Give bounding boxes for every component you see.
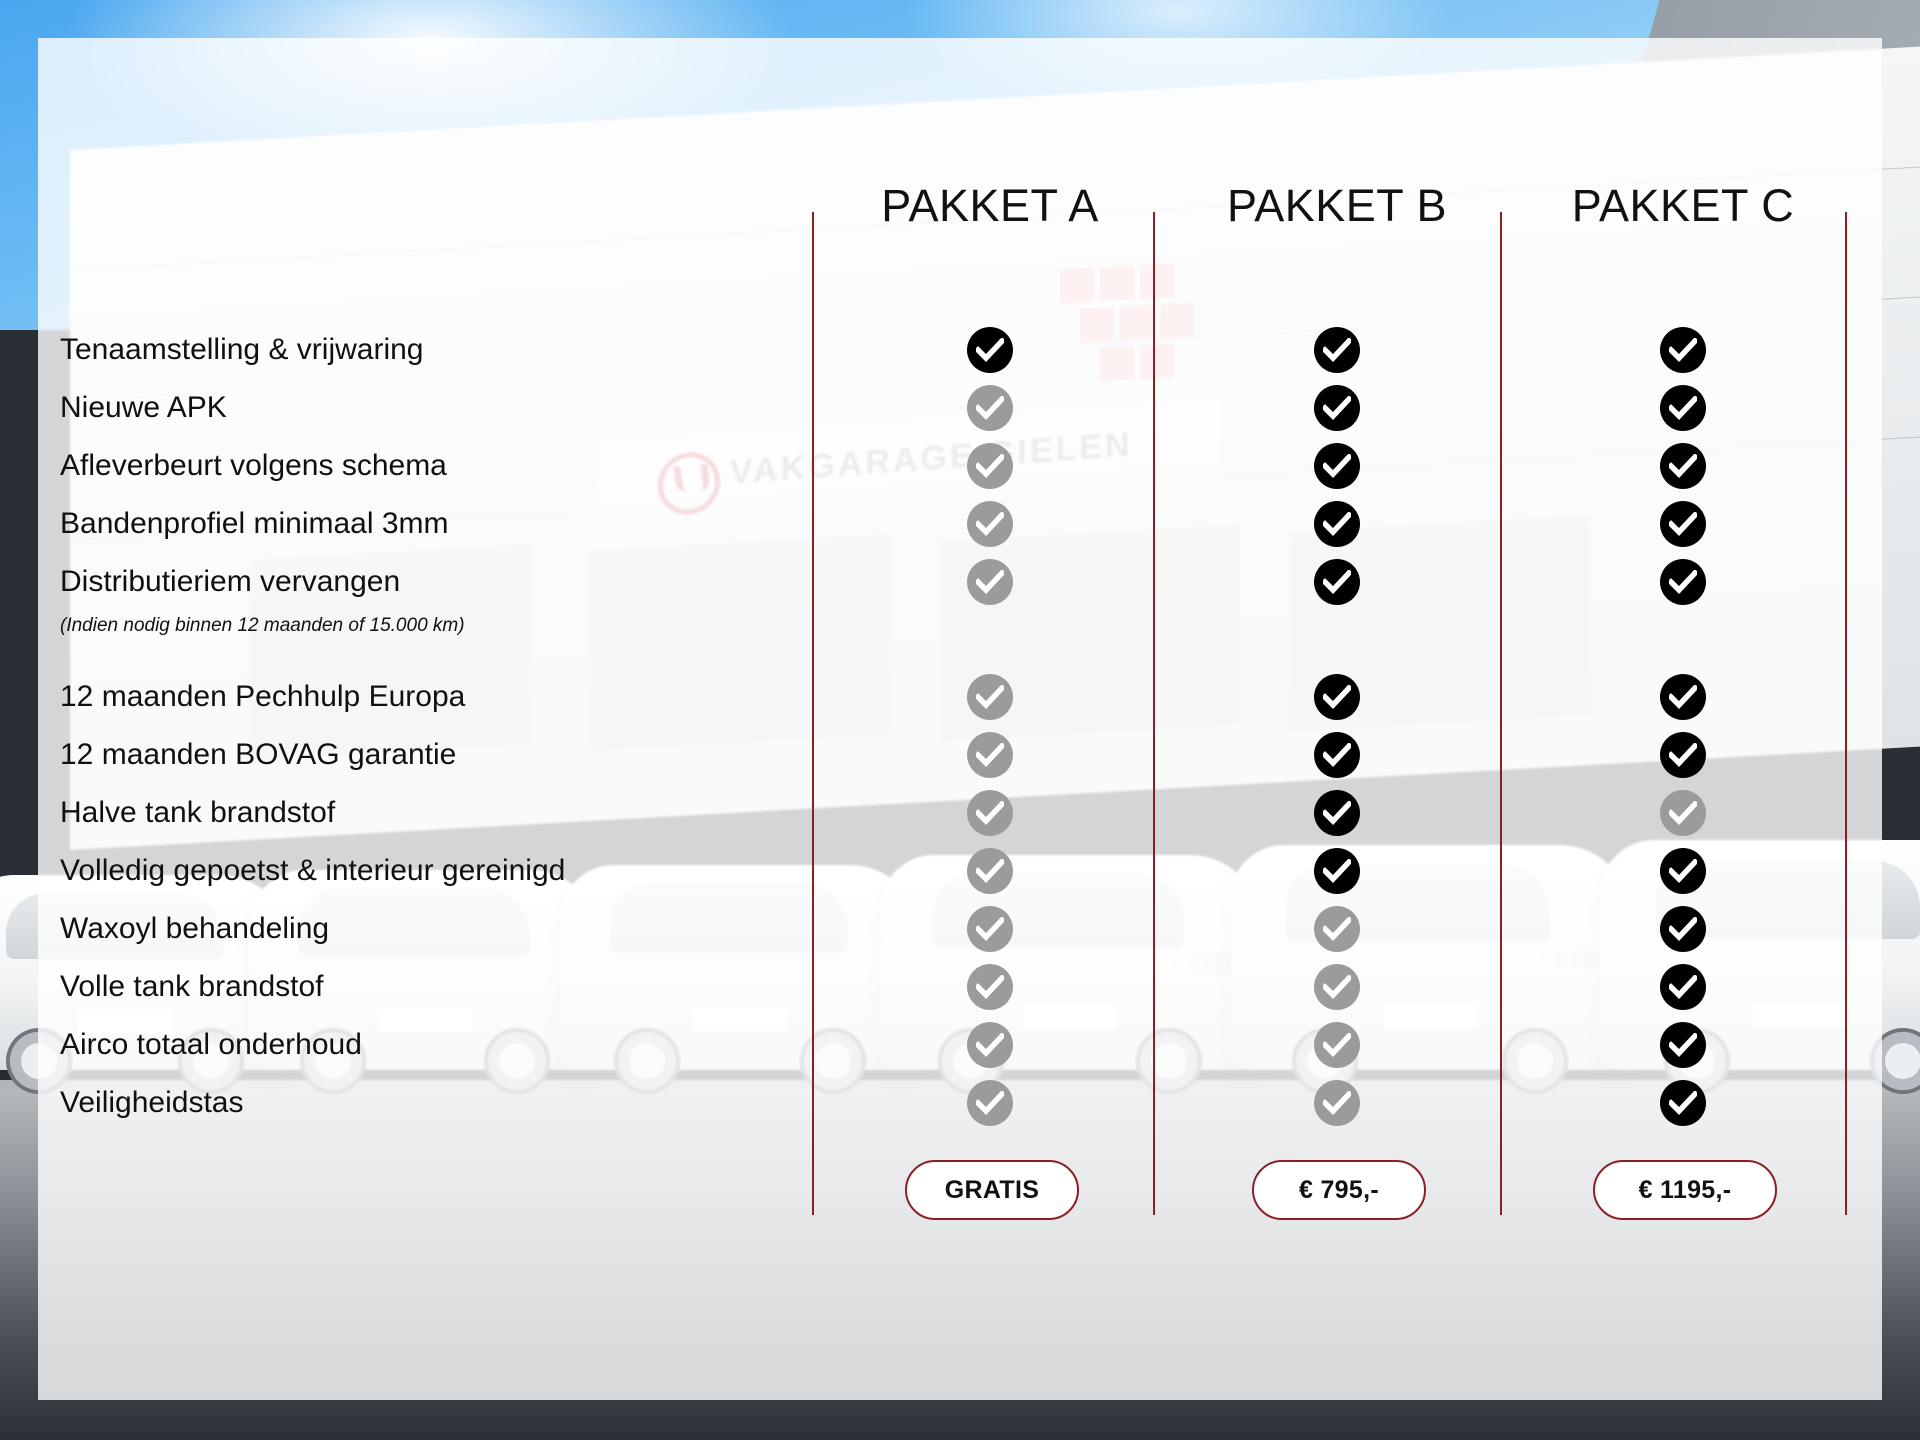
check-icon-c-excluded [1660, 790, 1706, 836]
feature-label: Tenaamstelling & vrijwaring [60, 335, 740, 365]
check-icon-b-excluded [1314, 964, 1360, 1010]
feature-label: Veiligheidstas [60, 1088, 740, 1118]
feature-label: Bandenprofiel minimaal 3mm [60, 509, 740, 539]
check-icon-c-included [1660, 443, 1706, 489]
package-header-a: PAKKET A [810, 178, 1170, 234]
check-icon-a-included [967, 327, 1013, 373]
check-icon-c-included [1660, 501, 1706, 547]
check-icon-a-excluded [967, 732, 1013, 778]
check-icon-c-included [1660, 1080, 1706, 1126]
check-icon-a-excluded [967, 964, 1013, 1010]
check-icon-a-excluded [967, 1080, 1013, 1126]
column-divider-4 [1845, 212, 1847, 1215]
check-icon-a-excluded [967, 848, 1013, 894]
check-icon-c-included [1660, 848, 1706, 894]
check-icon-c-included [1660, 964, 1706, 1010]
check-icon-b-included [1314, 790, 1360, 836]
check-icon-a-excluded [967, 1022, 1013, 1068]
check-icon-b-excluded [1314, 1022, 1360, 1068]
check-icon-b-included [1314, 501, 1360, 547]
price-button-b[interactable]: € 795,- [1252, 1160, 1426, 1220]
check-icon-a-excluded [967, 385, 1013, 431]
feature-note: (Indien nodig binnen 12 maanden of 15.00… [60, 616, 760, 635]
feature-label: Volledig gepoetst & interieur gereinigd [60, 856, 740, 886]
feature-label: Halve tank brandstof [60, 798, 740, 828]
feature-label: Volle tank brandstof [60, 972, 740, 1002]
check-icon-b-included [1314, 327, 1360, 373]
check-icon-c-included [1660, 559, 1706, 605]
feature-label: 12 maanden BOVAG garantie [60, 740, 740, 770]
check-icon-a-excluded [967, 559, 1013, 605]
package-comparison-table: PAKKET APAKKET BPAKKET CTenaamstelling &… [0, 0, 1920, 1440]
check-icon-a-excluded [967, 443, 1013, 489]
check-icon-c-included [1660, 327, 1706, 373]
package-header-b: PAKKET B [1157, 178, 1517, 234]
feature-label: Airco totaal onderhoud [60, 1030, 740, 1060]
feature-label: 12 maanden Pechhulp Europa [60, 682, 740, 712]
check-icon-c-included [1660, 1022, 1706, 1068]
feature-label: Waxoyl behandeling [60, 914, 740, 944]
check-icon-b-excluded [1314, 906, 1360, 952]
feature-label: Nieuwe APK [60, 393, 740, 423]
check-icon-a-excluded [967, 674, 1013, 720]
column-divider-3 [1500, 212, 1502, 1215]
check-icon-c-included [1660, 385, 1706, 431]
check-icon-b-included [1314, 385, 1360, 431]
check-icon-c-included [1660, 906, 1706, 952]
check-icon-b-included [1314, 443, 1360, 489]
price-button-a[interactable]: GRATIS [905, 1160, 1079, 1220]
feature-label: Afleverbeurt volgens schema [60, 451, 740, 481]
check-icon-b-included [1314, 732, 1360, 778]
package-header-c: PAKKET C [1503, 178, 1863, 234]
check-icon-a-excluded [967, 790, 1013, 836]
check-icon-b-included [1314, 848, 1360, 894]
check-icon-a-excluded [967, 906, 1013, 952]
check-icon-c-included [1660, 732, 1706, 778]
check-icon-b-included [1314, 674, 1360, 720]
check-icon-a-excluded [967, 501, 1013, 547]
check-icon-b-included [1314, 559, 1360, 605]
column-divider-1 [812, 212, 814, 1215]
check-icon-b-excluded [1314, 1080, 1360, 1126]
check-icon-c-included [1660, 674, 1706, 720]
column-divider-2 [1153, 212, 1155, 1215]
price-button-c[interactable]: € 1195,- [1593, 1160, 1777, 1220]
feature-label: Distributieriem vervangen [60, 567, 740, 597]
